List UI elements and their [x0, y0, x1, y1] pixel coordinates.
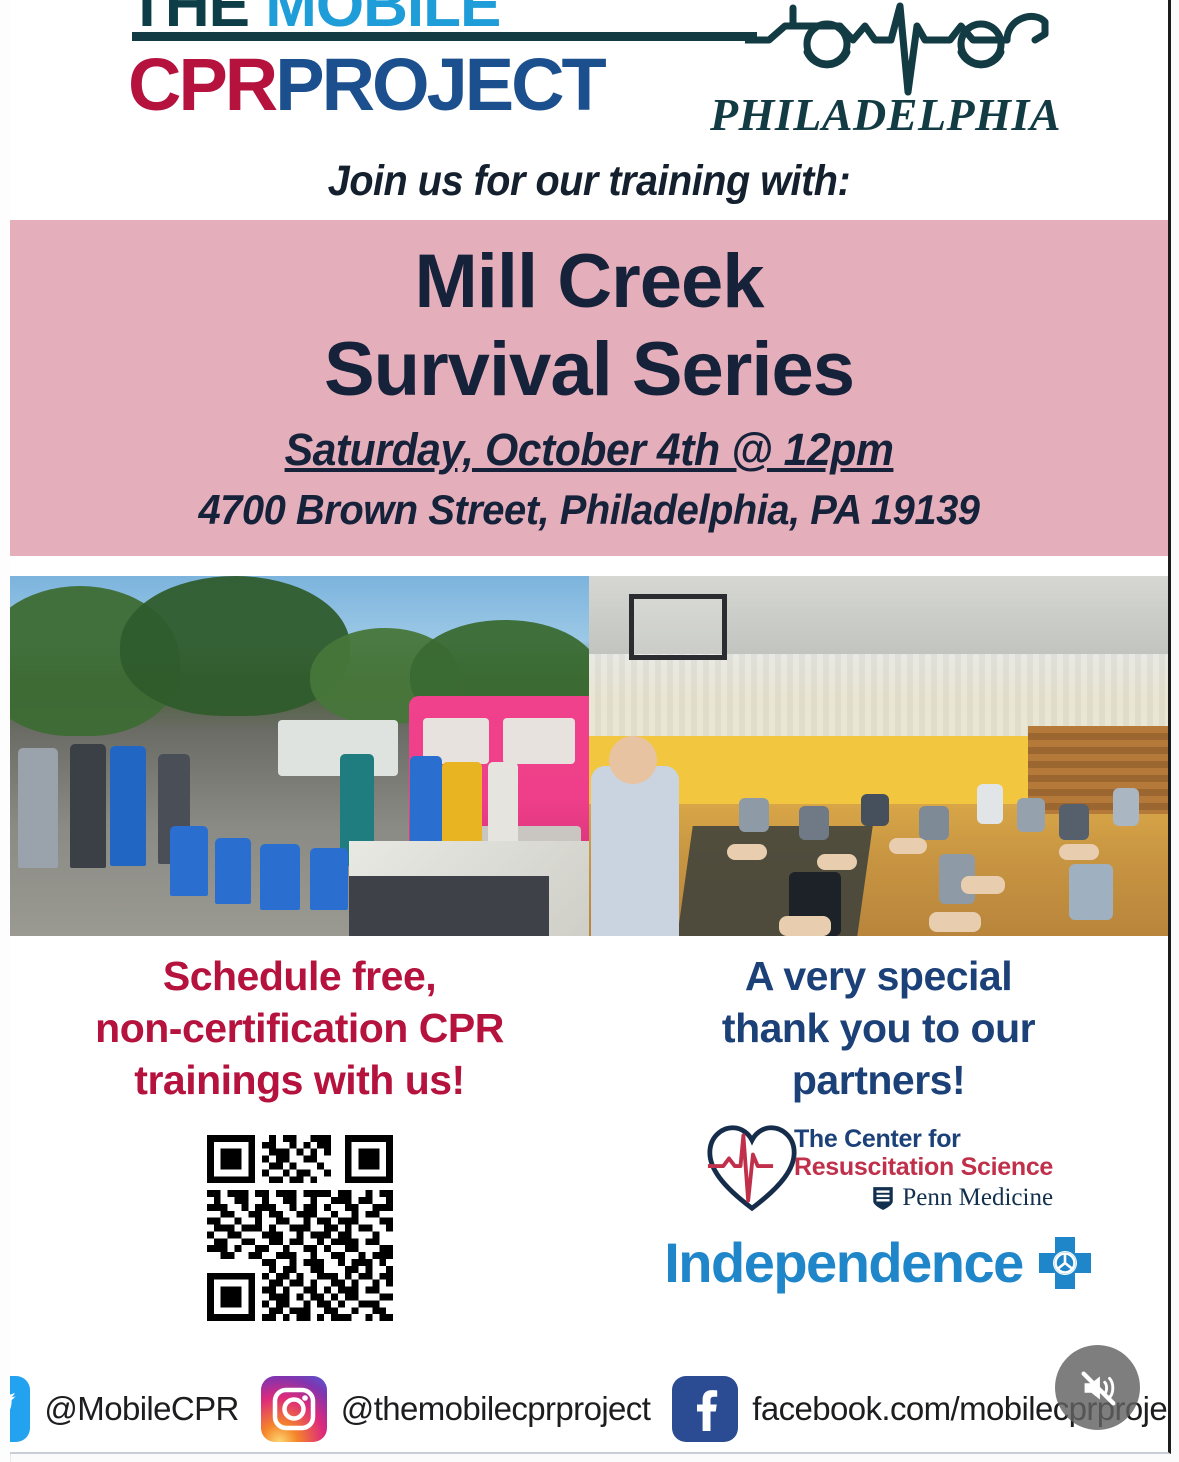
- instructor: [591, 766, 679, 936]
- social-footer: @MobileCPR @themobilecprproject facebook…: [10, 1376, 1168, 1442]
- partners-heading: A very special thank you to our partners…: [659, 950, 1099, 1106]
- intro-text: Join us for our training with:: [56, 157, 1121, 206]
- event-address: 4700 Brown Street, Philadelphia, PA 1913…: [39, 486, 1139, 534]
- event-title-line1: Mill Creek: [10, 238, 1168, 326]
- sound-off-button[interactable]: [1055, 1345, 1140, 1430]
- basketball-hoop: [629, 594, 727, 660]
- box-truck: [278, 720, 398, 776]
- partners-heading-line1: A very special: [659, 950, 1099, 1002]
- schedule-heading-line3: trainings with us!: [70, 1054, 530, 1106]
- schedule-heading-line2: non-certification CPR: [70, 1002, 530, 1054]
- ambulance-ecg-icon: [745, 0, 1065, 98]
- gymnasium-cpr-training-photo: [589, 576, 1168, 936]
- penn-shield-icon: [870, 1185, 896, 1211]
- partner-name-block: The Center for Resuscitation Science Pen…: [794, 1125, 1053, 1212]
- logo-the-text: THE: [128, 0, 249, 30]
- independence-text: Independence: [664, 1230, 1023, 1295]
- schedule-heading: Schedule free, non-certification CPR tra…: [70, 950, 530, 1106]
- logo-city-text: PHILADELPHIA: [710, 88, 1061, 141]
- info-columns: Schedule free, non-certification CPR tra…: [10, 950, 1168, 1328]
- partners-heading-line2: thank you to our: [659, 1002, 1099, 1054]
- logo-mobile-text: MOBILE: [265, 0, 500, 30]
- logo-cpr-text: CPR: [128, 43, 275, 126]
- schedule-heading-line1: Schedule free,: [70, 950, 530, 1002]
- independence-cross-icon: [1037, 1235, 1093, 1291]
- instagram-handle: @themobilecprproject: [341, 1390, 650, 1428]
- crs-line1: The Center for: [794, 1125, 1053, 1153]
- twitter-handle: @MobileCPR: [44, 1390, 238, 1428]
- qr-code[interactable]: [195, 1128, 405, 1328]
- logo-project-text: PROJECT: [275, 43, 604, 126]
- logo-divider-rule: [132, 32, 757, 41]
- event-datetime: Saturday, October 4th @ 12pm: [39, 424, 1139, 476]
- sound-off-icon: [1075, 1365, 1121, 1411]
- outdoor-cpr-training-photo: [10, 576, 589, 936]
- event-banner: Mill Creek Survival Series Saturday, Oct…: [10, 220, 1168, 556]
- heart-ecg-icon: [704, 1122, 800, 1214]
- crs-line2: Resuscitation Science: [794, 1153, 1053, 1181]
- partners-column: A very special thank you to our partners…: [589, 950, 1168, 1328]
- penn-medicine-text: Penn Medicine: [902, 1184, 1053, 1212]
- penn-medicine-lockup: Penn Medicine: [794, 1184, 1053, 1212]
- event-flyer: THE MOBILE CPRPROJECT PHILADELPHIA Join …: [10, 0, 1171, 1454]
- instagram-icon[interactable]: [261, 1376, 327, 1442]
- photo-strip: [10, 576, 1168, 936]
- partner-logo-independence: Independence: [589, 1230, 1168, 1295]
- brand-logo: THE MOBILE CPRPROJECT PHILADELPHIA: [10, 0, 1168, 155]
- logo-main-line: CPRPROJECT: [128, 48, 604, 123]
- partner-logo-center-for-resuscitation-science: The Center for Resuscitation Science Pen…: [589, 1122, 1168, 1214]
- schedule-column: Schedule free, non-certification CPR tra…: [10, 950, 589, 1328]
- event-title-line2: Survival Series: [10, 326, 1168, 414]
- twitter-icon[interactable]: [10, 1376, 30, 1442]
- facebook-icon[interactable]: [672, 1376, 738, 1442]
- partners-heading-line3: partners!: [659, 1054, 1099, 1106]
